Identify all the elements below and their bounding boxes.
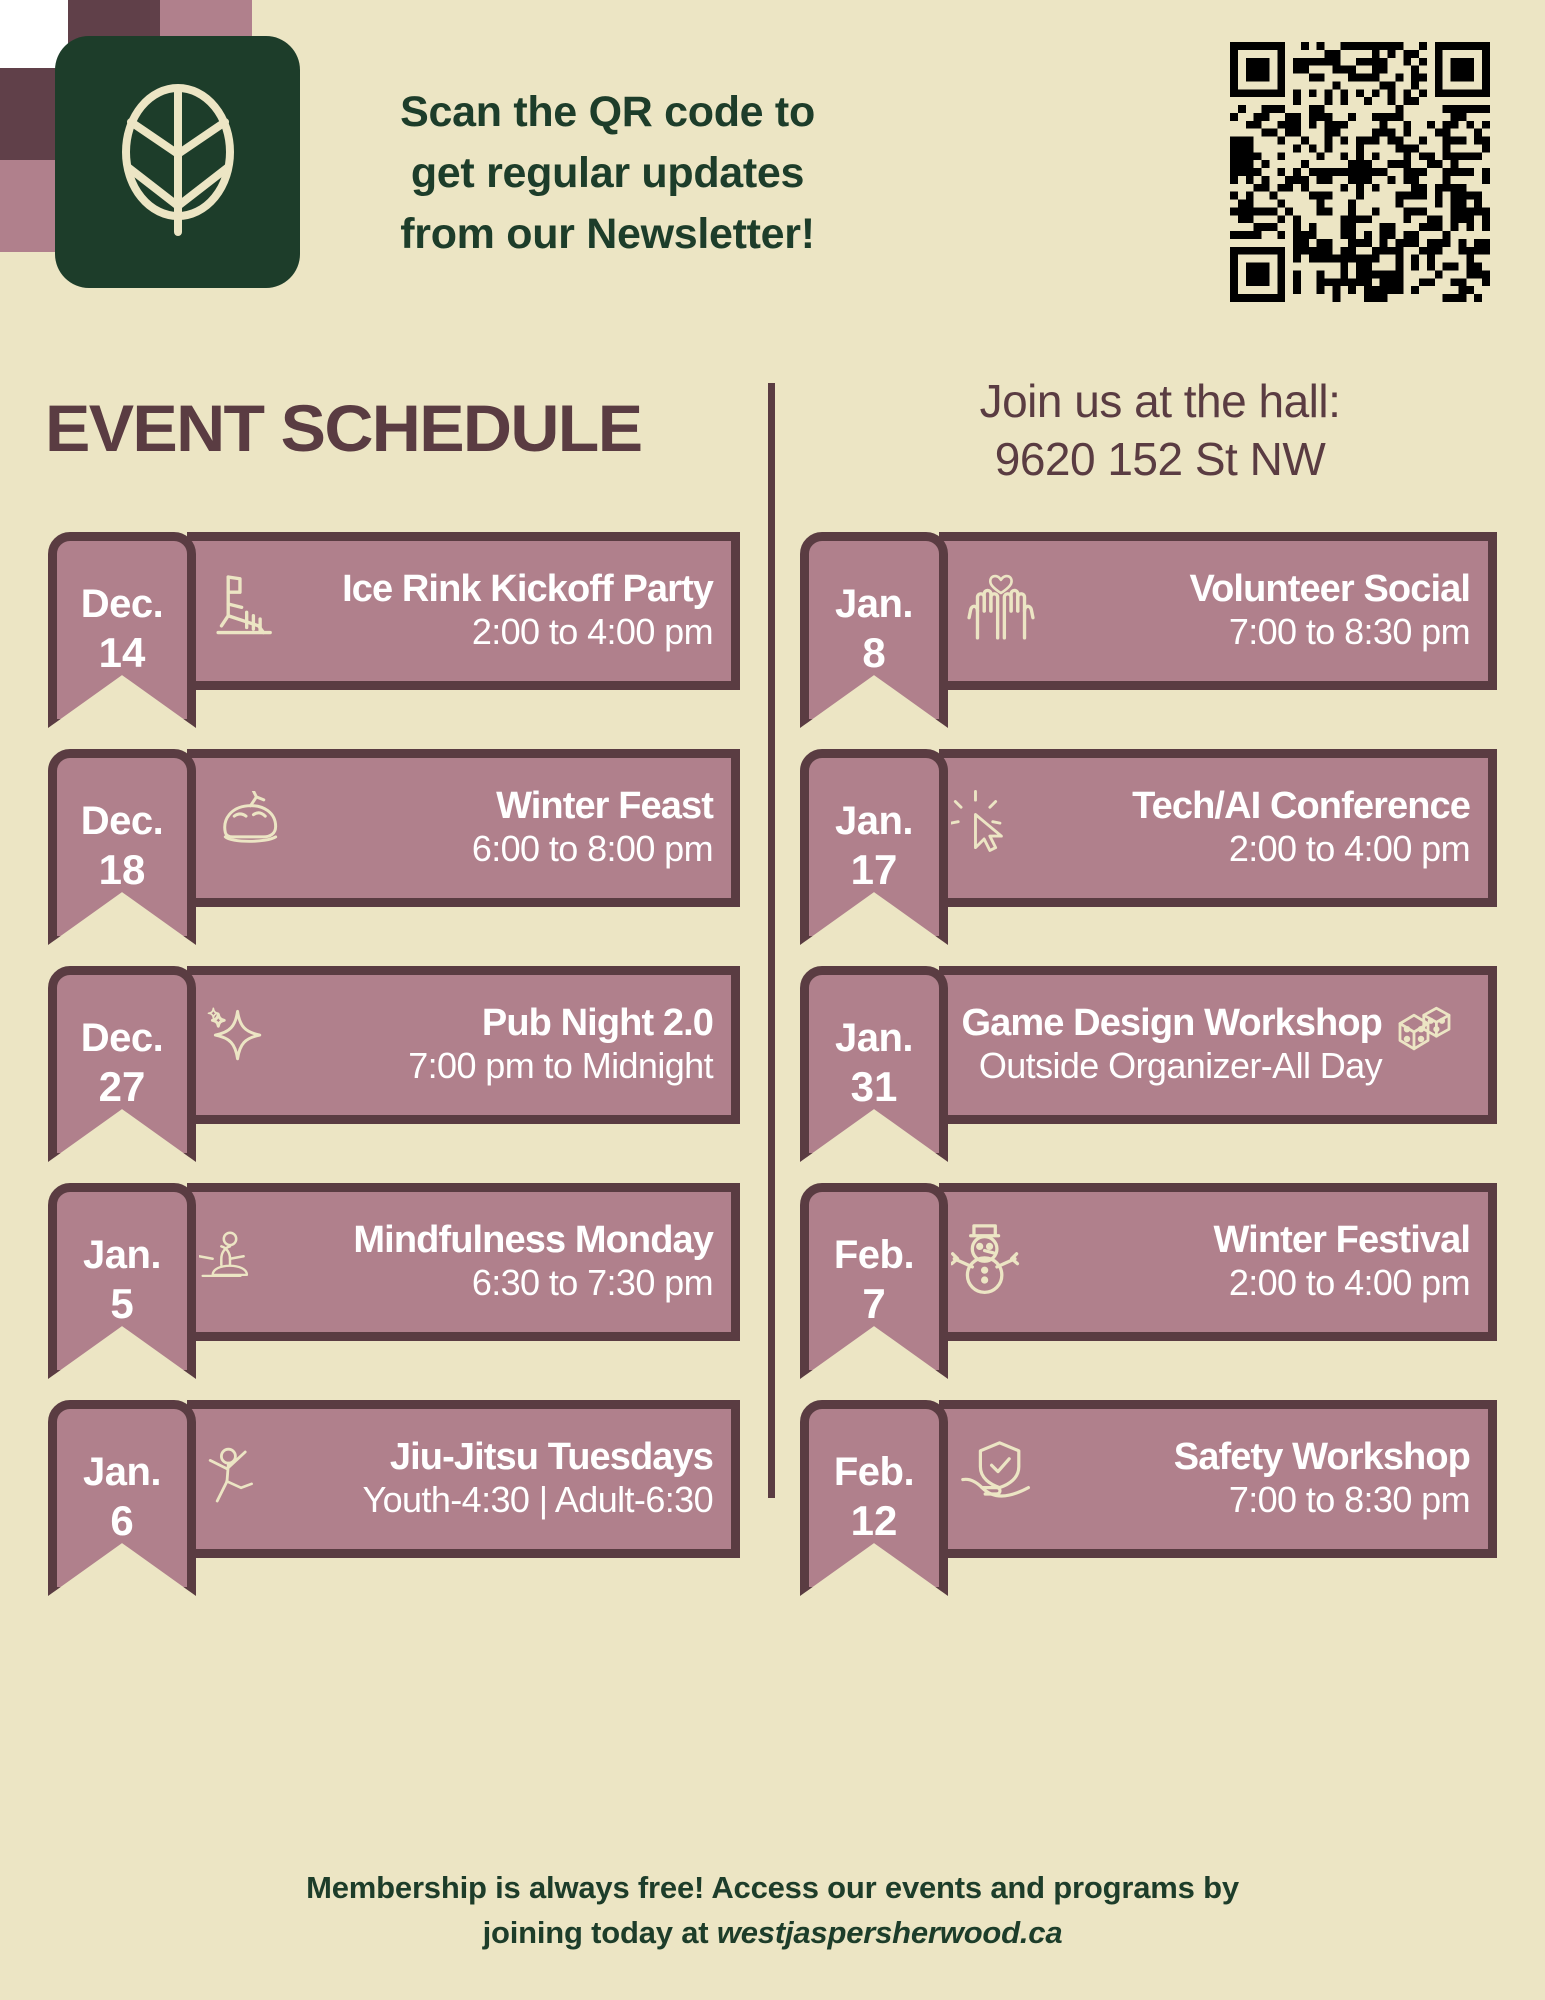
event-name: Winter Feast [496, 785, 713, 827]
event-text: Ice Rink Kickoff Party2:00 to 4:00 pm [295, 568, 713, 654]
event-month: Feb. [834, 1451, 914, 1494]
event-name: Volunteer Social [1189, 568, 1470, 610]
event-time: 2:00 to 4:00 pm [1229, 1262, 1470, 1303]
event-time: 7:00 pm to Midnight [408, 1045, 713, 1086]
event-text: Pub Night 2.07:00 pm to Midnight [289, 1002, 713, 1088]
event-text: Volunteer Social7:00 to 8:30 pm [1055, 568, 1470, 654]
event-month: Feb. [834, 1234, 914, 1277]
event-text: Winter Festival2:00 to 4:00 pm [1037, 1219, 1470, 1305]
event-panel[interactable]: Volunteer Social7:00 to 8:30 pm [939, 532, 1497, 690]
event-ribbon[interactable]: Winter Feast6:00 to 8:00 pmDec.18 [48, 749, 740, 945]
event-ribbon[interactable]: Mindfulness Monday6:30 to 7:30 pmJan.5 [48, 1183, 740, 1379]
event-ribbon[interactable]: Ice Rink Kickoff Party2:00 to 4:00 pmDec… [48, 532, 740, 728]
event-time: 2:00 to 4:00 pm [1229, 828, 1470, 869]
event-ribbon[interactable]: Volunteer Social7:00 to 8:30 pmJan.8 [800, 532, 1497, 728]
event-panel[interactable]: Winter Feast6:00 to 8:00 pm [187, 749, 740, 907]
event-time: 7:00 to 8:30 pm [1229, 1479, 1470, 1520]
shield-hand-icon [951, 1438, 1045, 1518]
event-text: Winter Feast6:00 to 8:00 pm [303, 785, 713, 871]
event-day: 5 [110, 1279, 133, 1329]
event-ribbon[interactable]: Safety Workshop7:00 to 8:30 pmFeb.12 [800, 1400, 1497, 1596]
hall-line-2: 9620 152 St NW [800, 431, 1520, 489]
event-date-badge[interactable]: Feb.12 [800, 1400, 948, 1596]
event-ribbon[interactable]: Winter Festival2:00 to 4:00 pmFeb.7 [800, 1183, 1497, 1379]
roast-turkey-icon [199, 791, 299, 865]
event-panel[interactable]: Pub Night 2.07:00 pm to Midnight [187, 966, 740, 1124]
event-text: Tech/AI Conference2:00 to 4:00 pm [1027, 785, 1470, 871]
footer-membership-note: Membership is always free! Access our ev… [0, 1866, 1545, 1956]
event-panel[interactable]: Jiu-Jitsu TuesdaysYouth-4:30 | Adult-6:3… [187, 1400, 740, 1558]
scan-line-3: from our Newsletter! [345, 204, 870, 265]
dice-icon [1386, 1004, 1470, 1074]
event-name: Ice Rink Kickoff Party [342, 568, 713, 610]
snowman-icon [951, 1217, 1033, 1307]
event-time: 6:30 to 7:30 pm [472, 1262, 713, 1303]
footer-line-1: Membership is always free! Access our ev… [0, 1866, 1545, 1911]
event-ribbon[interactable]: Pub Night 2.07:00 pm to MidnightDec.27 [48, 966, 740, 1162]
event-day: 7 [862, 1279, 885, 1329]
event-text: Safety Workshop7:00 to 8:30 pm [1049, 1436, 1470, 1522]
event-time: 2:00 to 4:00 pm [472, 611, 713, 652]
event-text: Game Design WorkshopOutside Organizer-Al… [961, 1002, 1382, 1088]
event-ribbon[interactable]: Jiu-Jitsu TuesdaysYouth-4:30 | Adult-6:3… [48, 1400, 740, 1596]
event-day: 31 [851, 1062, 898, 1112]
event-time: Outside Organizer-All Day [979, 1045, 1382, 1086]
event-time: Youth-4:30 | Adult-6:30 [362, 1479, 713, 1520]
event-month: Dec. [81, 1017, 164, 1060]
scan-line-1: Scan the QR code to [345, 82, 870, 143]
event-date-badge[interactable]: Jan.31 [800, 966, 948, 1162]
event-date-badge[interactable]: Feb.7 [800, 1183, 948, 1379]
event-month: Jan. [835, 1017, 913, 1060]
event-date-badge[interactable]: Jan.6 [48, 1400, 196, 1596]
event-day: 18 [99, 845, 146, 895]
event-day: 12 [851, 1496, 898, 1546]
event-panel[interactable]: Winter Festival2:00 to 4:00 pm [939, 1183, 1497, 1341]
event-date-badge[interactable]: Jan.17 [800, 749, 948, 945]
martial-arts-kick-icon [199, 1436, 269, 1524]
event-column-right: Volunteer Social7:00 to 8:30 pmJan.8Tech… [800, 532, 1497, 1617]
page-title: EVENT SCHEDULE [45, 395, 641, 461]
event-name: Pub Night 2.0 [482, 1002, 713, 1044]
event-date-badge[interactable]: Jan.8 [800, 532, 948, 728]
event-panel[interactable]: Game Design WorkshopOutside Organizer-Al… [939, 966, 1497, 1124]
event-date-badge[interactable]: Jan.5 [48, 1183, 196, 1379]
event-month: Dec. [81, 800, 164, 843]
logo-tile [55, 36, 300, 288]
leaf-icon [113, 80, 243, 245]
click-cursor-icon [951, 784, 1023, 868]
event-name: Jiu-Jitsu Tuesdays [390, 1436, 713, 1478]
event-panel[interactable]: Safety Workshop7:00 to 8:30 pm [939, 1400, 1497, 1558]
event-panel[interactable]: Tech/AI Conference2:00 to 4:00 pm [939, 749, 1497, 907]
ice-skate-icon [199, 567, 291, 651]
event-name: Game Design Workshop [961, 1002, 1382, 1044]
event-name: Safety Workshop [1174, 1436, 1470, 1478]
event-column-left: Ice Rink Kickoff Party2:00 to 4:00 pmDec… [48, 532, 740, 1617]
scan-instruction-text: Scan the QR code to get regular updates … [345, 82, 870, 265]
event-panel[interactable]: Mindfulness Monday6:30 to 7:30 pm [187, 1183, 740, 1341]
sparkle-icon [199, 1004, 285, 1078]
qr-code[interactable] [1230, 42, 1490, 302]
title-row: EVENT SCHEDULE Join us at the hall: 9620… [0, 395, 1545, 500]
event-time: 7:00 to 8:30 pm [1229, 611, 1470, 652]
event-text: Jiu-Jitsu TuesdaysYouth-4:30 | Adult-6:3… [273, 1436, 713, 1522]
footer-line-2: joining today at westjaspersherwood.ca [0, 1911, 1545, 1956]
event-month: Jan. [83, 1234, 161, 1277]
hall-line-1: Join us at the hall: [800, 373, 1520, 431]
website-url[interactable]: westjaspersherwood.ca [717, 1915, 1063, 1950]
event-day: 27 [99, 1062, 146, 1112]
event-month: Jan. [83, 1451, 161, 1494]
event-month: Jan. [835, 583, 913, 626]
event-text: Mindfulness Monday6:30 to 7:30 pm [265, 1219, 713, 1305]
raised-hands-heart-icon [951, 569, 1051, 653]
event-date-badge[interactable]: Dec.27 [48, 966, 196, 1162]
event-day: 8 [862, 628, 885, 678]
event-ribbon[interactable]: Game Design WorkshopOutside Organizer-Al… [800, 966, 1497, 1162]
event-date-badge[interactable]: Dec.18 [48, 749, 196, 945]
event-name: Mindfulness Monday [353, 1219, 713, 1261]
footer-line-2-prefix: joining today at [483, 1915, 717, 1950]
column-divider [768, 383, 775, 1498]
deco-block-rose-2 [0, 160, 55, 252]
event-panel[interactable]: Ice Rink Kickoff Party2:00 to 4:00 pm [187, 532, 740, 690]
hall-address: Join us at the hall: 9620 152 St NW [800, 373, 1520, 489]
yoga-pose-icon [199, 1217, 261, 1303]
event-ribbon[interactable]: Tech/AI Conference2:00 to 4:00 pmJan.17 [800, 749, 1497, 945]
event-name: Tech/AI Conference [1132, 785, 1470, 827]
event-month: Dec. [81, 583, 164, 626]
event-time: 6:00 to 8:00 pm [472, 828, 713, 869]
event-date-badge[interactable]: Dec.14 [48, 532, 196, 728]
scan-line-2: get regular updates [345, 143, 870, 204]
event-name: Winter Festival [1214, 1219, 1470, 1261]
event-day: 14 [99, 628, 146, 678]
event-month: Jan. [835, 800, 913, 843]
event-day: 17 [851, 845, 898, 895]
event-day: 6 [110, 1496, 133, 1546]
